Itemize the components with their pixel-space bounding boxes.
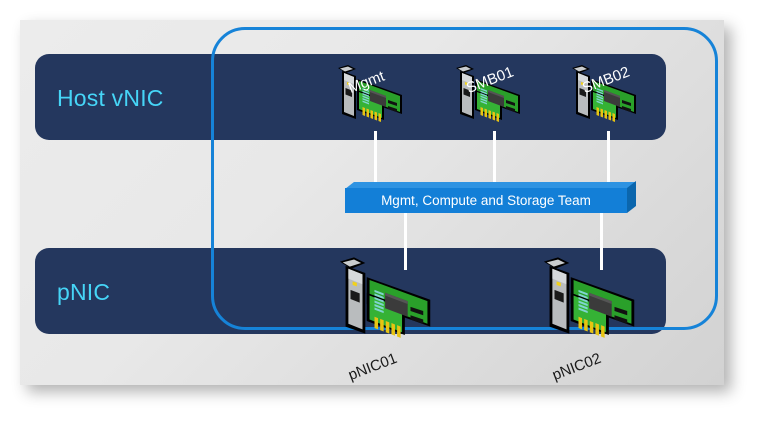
network-card-icon xyxy=(334,256,439,352)
team-bar-side-face xyxy=(627,181,636,213)
band-host-vnic-label: Host vNIC xyxy=(57,85,164,112)
wire-smb01-to-team xyxy=(493,131,496,188)
team-bar-mgmt-compute-storage[interactable]: Mgmt, Compute and Storage Team xyxy=(345,182,641,213)
nic-card-pnic01[interactable] xyxy=(334,256,439,352)
diagram-canvas: Host vNIC pNIC Mgmt, Compute and Storage… xyxy=(0,0,765,427)
network-card-icon xyxy=(538,256,643,352)
team-bar-front-face: Mgmt, Compute and Storage Team xyxy=(345,188,627,213)
wire-smb02-to-team xyxy=(607,131,610,188)
band-pnic-label: pNIC xyxy=(57,279,110,306)
wire-mgmt-to-team xyxy=(374,131,377,188)
team-bar-label: Mgmt, Compute and Storage Team xyxy=(381,193,591,208)
nic-card-pnic02[interactable] xyxy=(538,256,643,352)
